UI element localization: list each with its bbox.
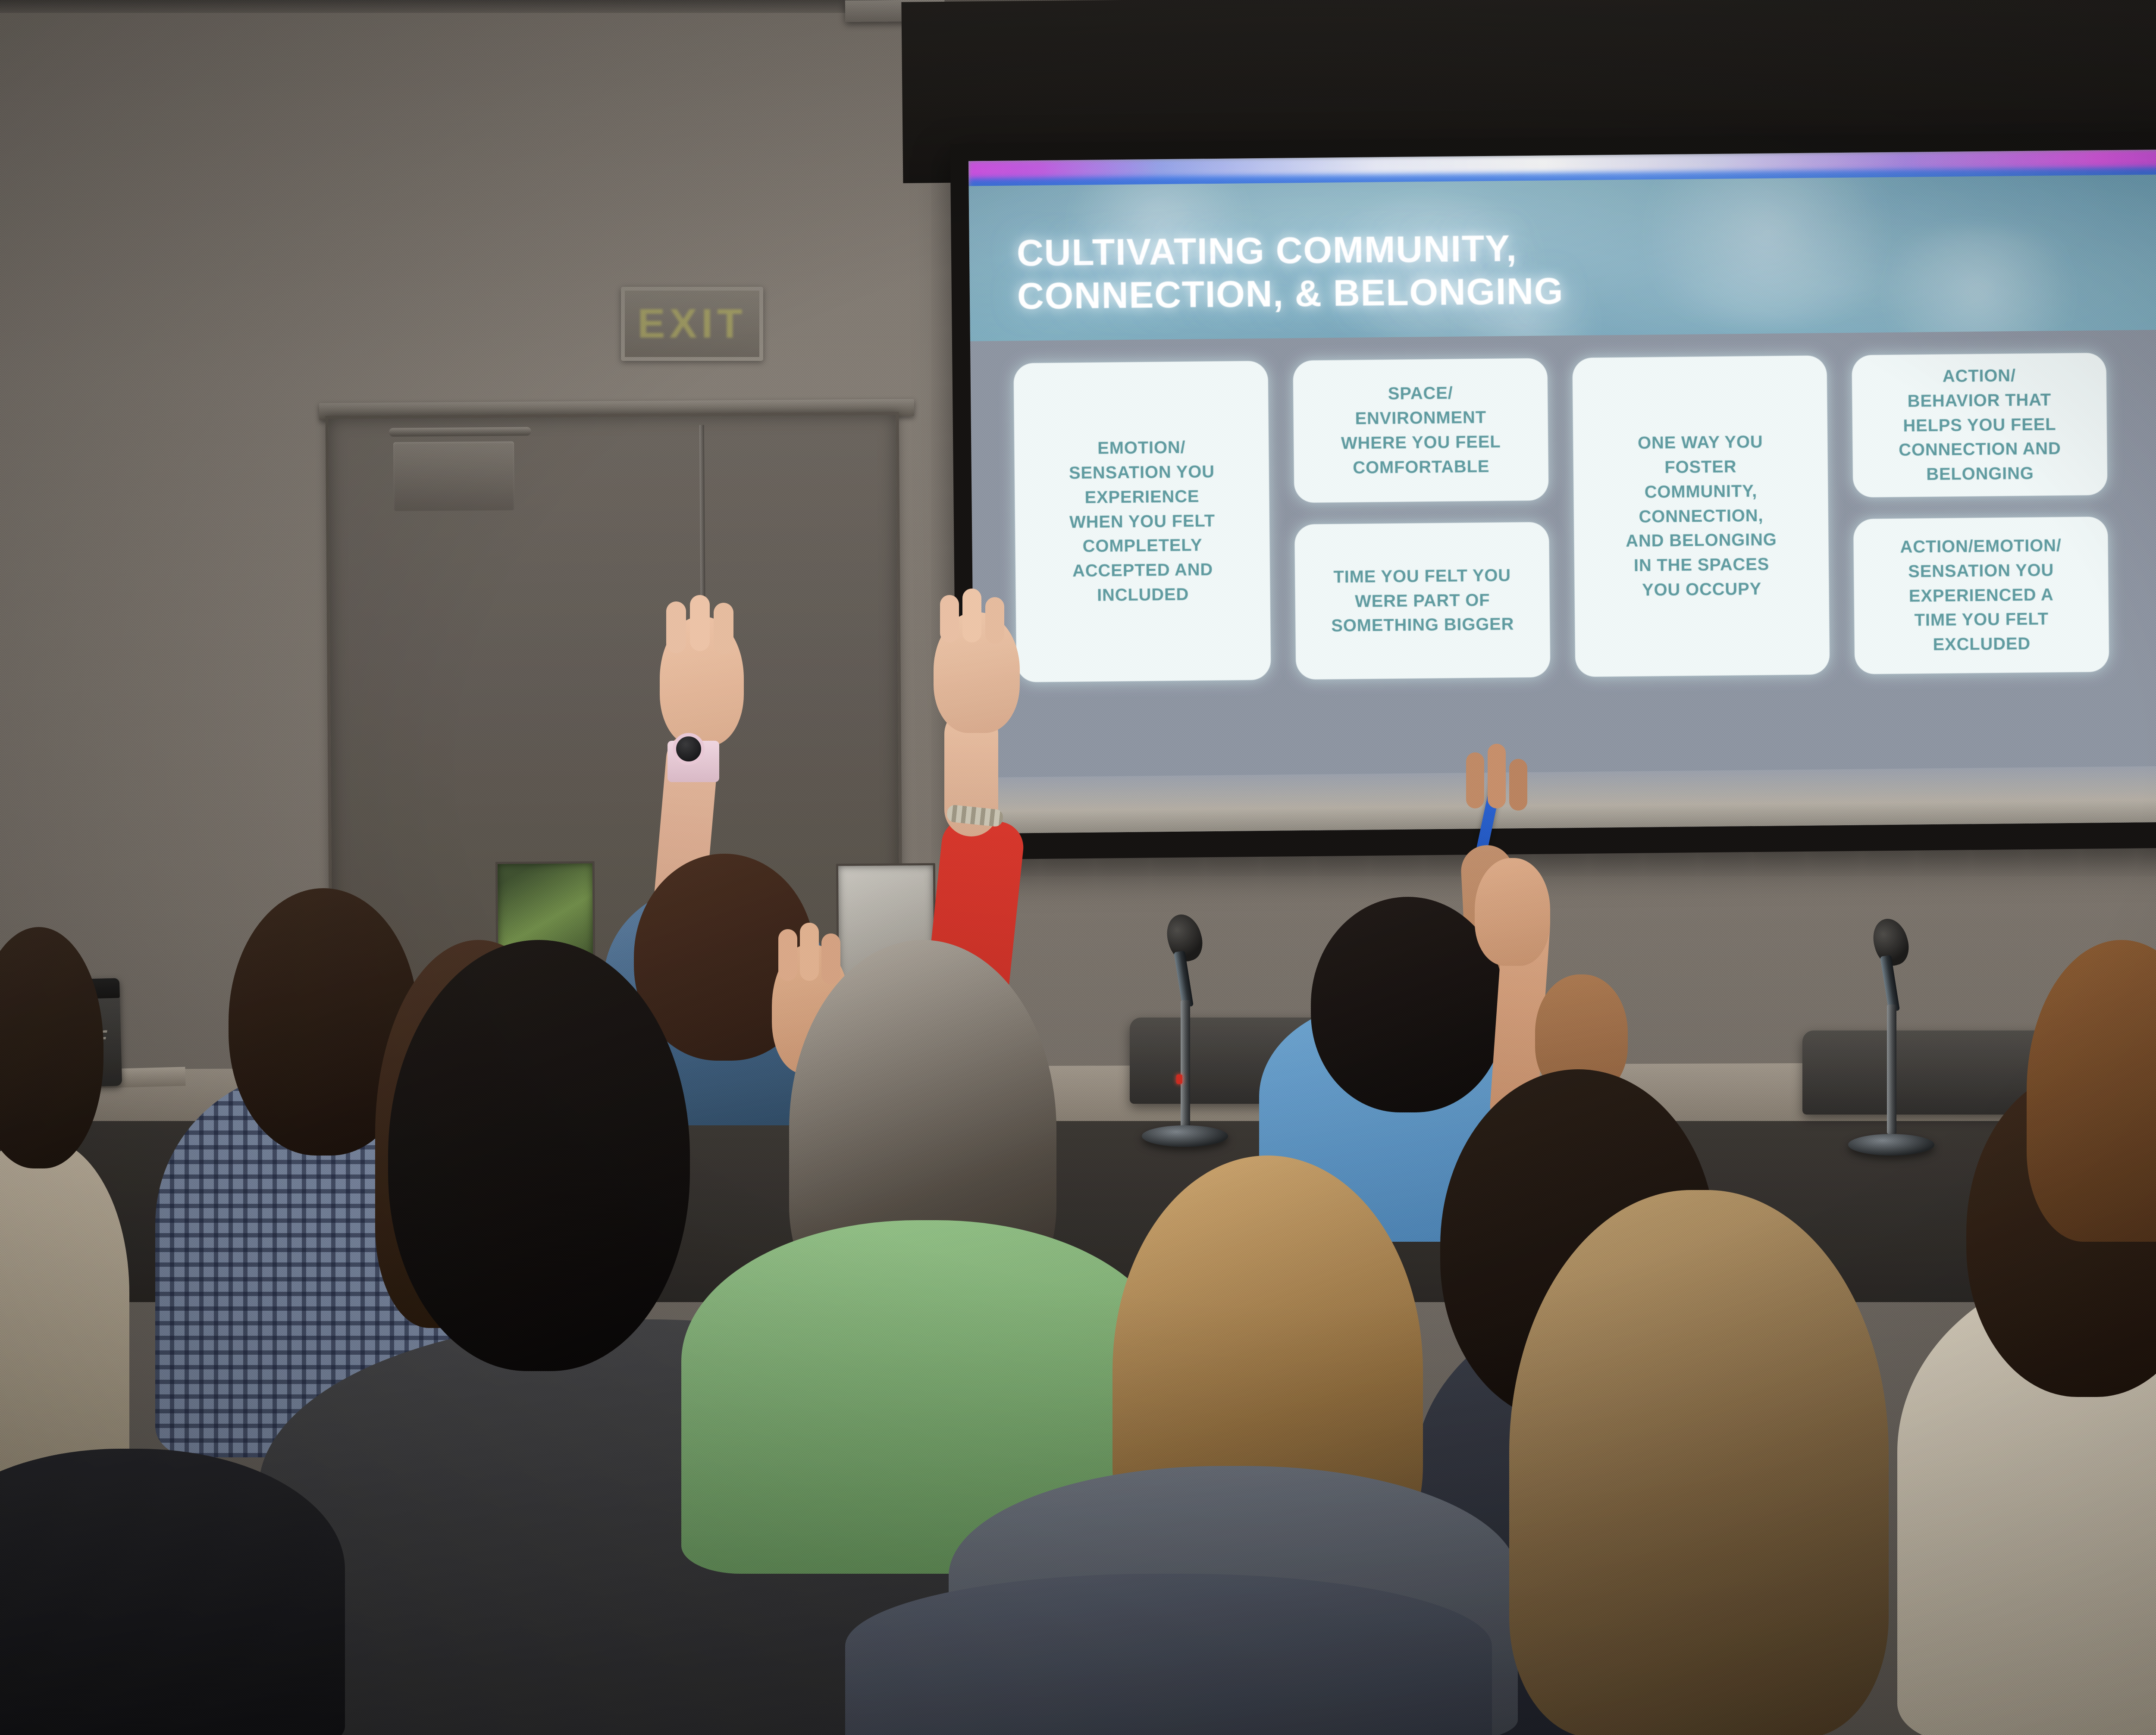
card-column-1: EMOTION/ SENSATION YOU EXPERIENCE WHEN Y…: [1013, 361, 1271, 683]
card-space-comfortable: SPACE/ ENVIRONMENT WHERE YOU FEEL COMFOR…: [1293, 358, 1548, 503]
microphone-stem-left: [1181, 1000, 1190, 1130]
card-action-behavior: ACTION/ BEHAVIOR THAT HELPS YOU FEEL CON…: [1852, 353, 2107, 498]
exit-sign-label: EXIT: [637, 300, 746, 348]
door-seam-left: [699, 425, 705, 615]
bottom-center-body: [845, 1574, 1492, 1735]
bottom-left-dark-body: [0, 1449, 345, 1735]
slide-card-grid: EMOTION/ SENSATION YOU EXPERIENCE WHEN Y…: [1013, 353, 2138, 708]
head-black-short: [388, 940, 690, 1371]
head-long-blonde: [1509, 1190, 1889, 1735]
hand-3-finger: [1488, 744, 1506, 808]
lecture-hall-photo: EXIT CULTIVATING COMMUNITY, CONNECTION, …: [0, 0, 2156, 1735]
slide-footer-band: [975, 766, 2156, 834]
microphone-stem-right: [1887, 1005, 1896, 1134]
hand-2-finger: [940, 595, 959, 642]
hand-3-finger: [1466, 752, 1484, 808]
hand-6-finger: [778, 929, 797, 981]
raised-hand-4: [1475, 858, 1550, 966]
hand-2-finger: [985, 597, 1004, 644]
slide-title: CULTIVATING COMMUNITY, CONNECTION, & BEL…: [1017, 227, 1564, 318]
hand-1-finger: [714, 603, 733, 655]
card-column-4: ACTION/ BEHAVIOR THAT HELPS YOU FEEL CON…: [1852, 353, 2109, 674]
microphone-led-left: [1176, 1074, 1182, 1084]
hand-6-finger: [800, 923, 819, 981]
card-foster-community: ONE WAY YOU FOSTER COMMUNITY, CONNECTION…: [1572, 355, 1830, 677]
hand-1-finger: [690, 595, 710, 651]
smartwatch: [673, 733, 705, 765]
microphone-base-left: [1142, 1125, 1228, 1147]
hand-6-finger: [821, 933, 840, 984]
hand-1-finger: [666, 601, 686, 653]
presentation-slide: CULTIVATING COMMUNITY, CONNECTION, & BEL…: [968, 150, 2156, 834]
microphone-base-right: [1848, 1134, 1934, 1156]
card-emotion-accepted: EMOTION/ SENSATION YOU EXPERIENCE WHEN Y…: [1013, 361, 1271, 683]
card-column-2: SPACE/ ENVIRONMENT WHERE YOU FEEL COMFOR…: [1293, 358, 1550, 680]
card-felt-excluded: ACTION/EMOTION/ SENSATION YOU EXPERIENCE…: [1853, 517, 2109, 674]
door-closer-left: [393, 442, 514, 511]
exit-sign: EXIT: [621, 287, 763, 361]
hand-3-finger: [1509, 759, 1527, 811]
projection-screen: CULTIVATING COMMUNITY, CONNECTION, & BEL…: [901, 0, 2156, 873]
card-column-3: ONE WAY YOU FOSTER COMMUNITY, CONNECTION…: [1572, 355, 1830, 677]
hand-2-finger: [962, 589, 981, 642]
card-something-bigger: TIME YOU FELT YOU WERE PART OF SOMETHING…: [1294, 522, 1550, 680]
door-push-bar-left: [389, 427, 531, 436]
slide-header-banner: CULTIVATING COMMUNITY, CONNECTION, & BEL…: [968, 175, 2156, 341]
